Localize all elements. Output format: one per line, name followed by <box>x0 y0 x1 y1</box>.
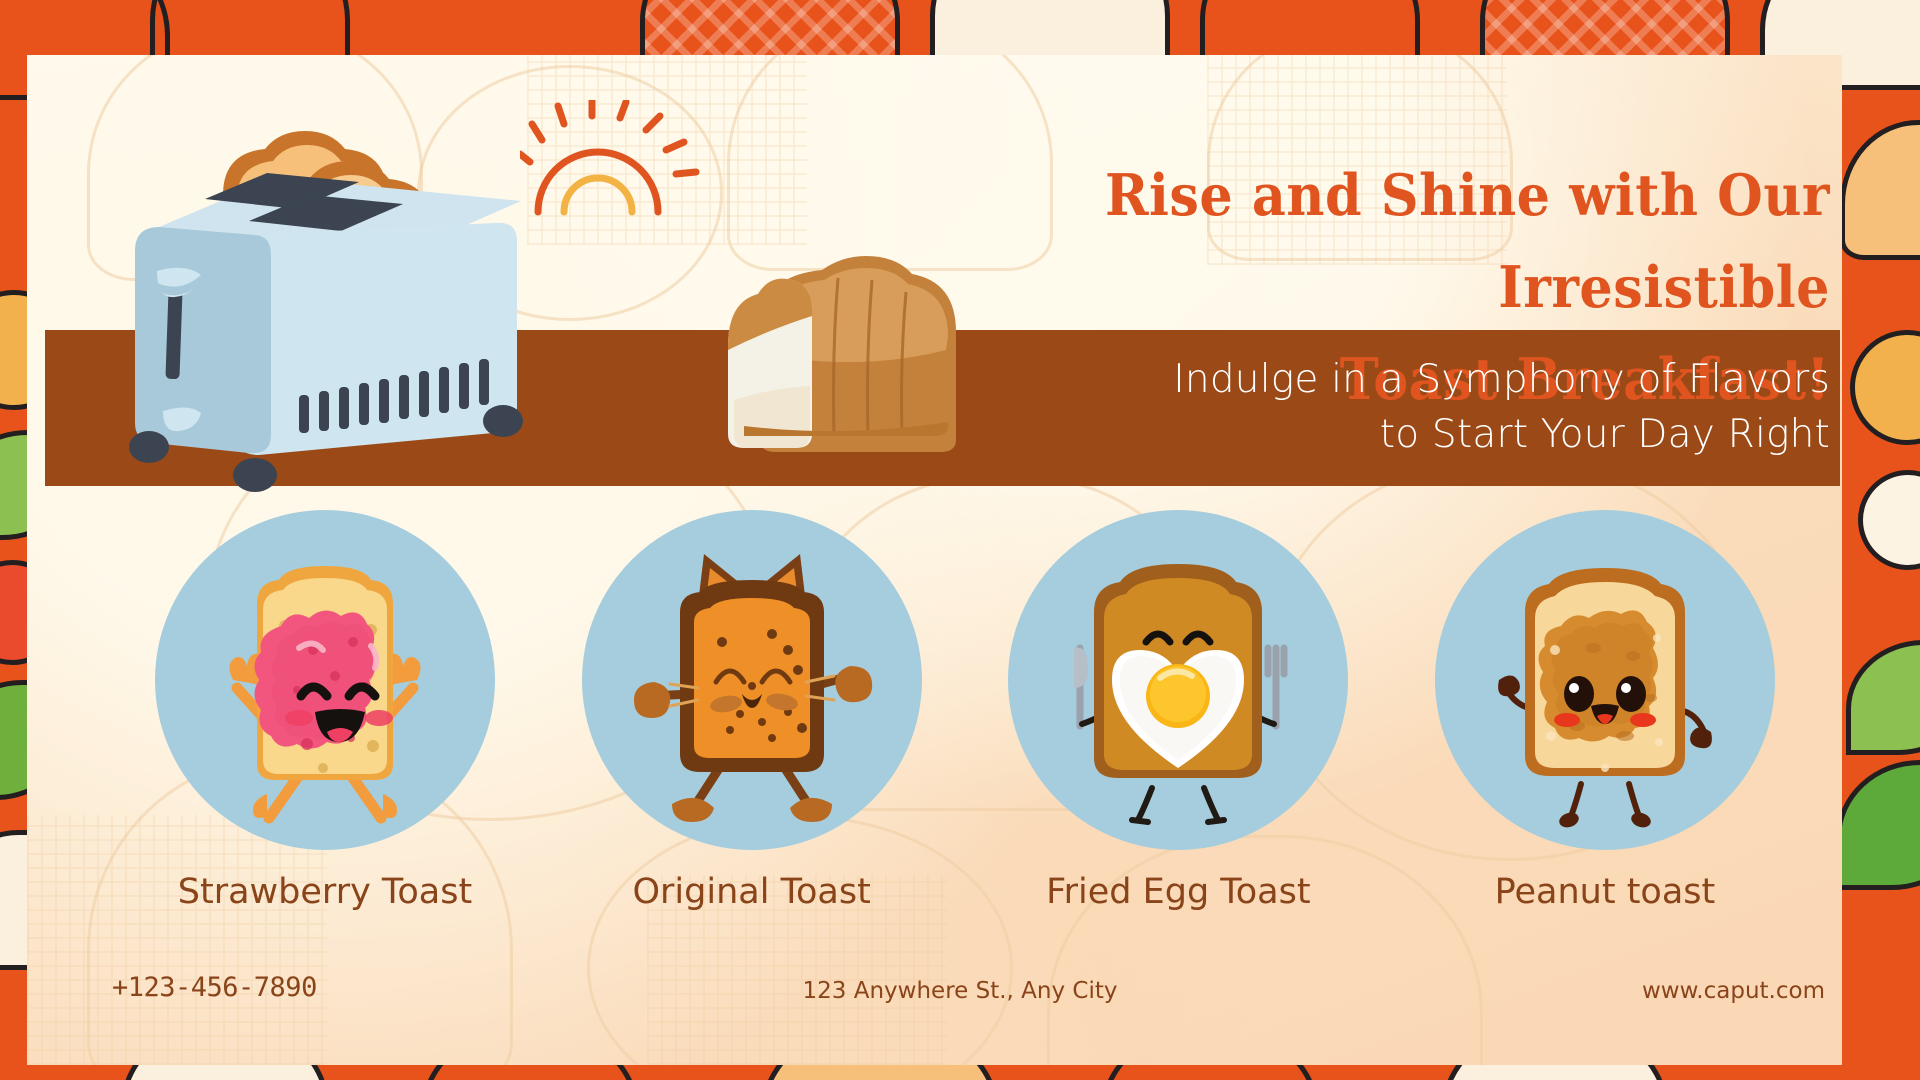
fried-egg-toast-icon <box>1028 530 1328 830</box>
tomato-doodle <box>1850 330 1920 445</box>
subtitle-line-1: Indulge in a Symphony of Flavors <box>930 352 1830 407</box>
lettuce-doodle <box>1846 640 1920 755</box>
product-label: Strawberry Toast <box>178 872 472 912</box>
bread-doodle <box>1840 120 1920 260</box>
footer: +123-456-7890 123 Anywhere St., Any City… <box>27 972 1893 1018</box>
egg-doodle <box>1858 470 1920 570</box>
peanut-toast-icon <box>1455 530 1755 830</box>
sun-rainbow-icon <box>520 100 710 220</box>
footer-website[interactable]: www.caput.com <box>1642 978 1825 1004</box>
product-label: Peanut toast <box>1495 872 1716 912</box>
product-circle <box>155 510 495 850</box>
product-card-original[interactable]: Original Toast <box>577 510 927 930</box>
product-circle <box>582 510 922 850</box>
toaster-icon <box>105 75 525 495</box>
product-circle <box>1008 510 1348 850</box>
product-label: Original Toast <box>632 872 870 912</box>
product-card-peanut[interactable]: Peanut toast <box>1430 510 1780 930</box>
footer-address: 123 Anywhere St., Any City <box>27 978 1893 1004</box>
lettuce-doodle <box>1836 760 1920 890</box>
product-card-strawberry[interactable]: Strawberry Toast <box>150 510 500 930</box>
original-toast-cat-icon <box>602 530 902 830</box>
poster-root: Rise and Shine with Our Irresistible Toa… <box>0 0 1920 1080</box>
product-card-fried-egg[interactable]: Fried Egg Toast <box>1003 510 1353 930</box>
product-list: Strawberry Toast <box>150 510 1780 930</box>
product-label: Fried Egg Toast <box>1046 872 1311 912</box>
subtitle-line-2: to Start Your Day Right <box>930 407 1830 462</box>
subtitle: Indulge in a Symphony of Flavors to Star… <box>930 352 1830 462</box>
product-circle <box>1435 510 1775 850</box>
strawberry-toast-icon <box>175 530 475 830</box>
headline-line-1: Rise and Shine with Our Irresistible <box>1105 162 1830 321</box>
